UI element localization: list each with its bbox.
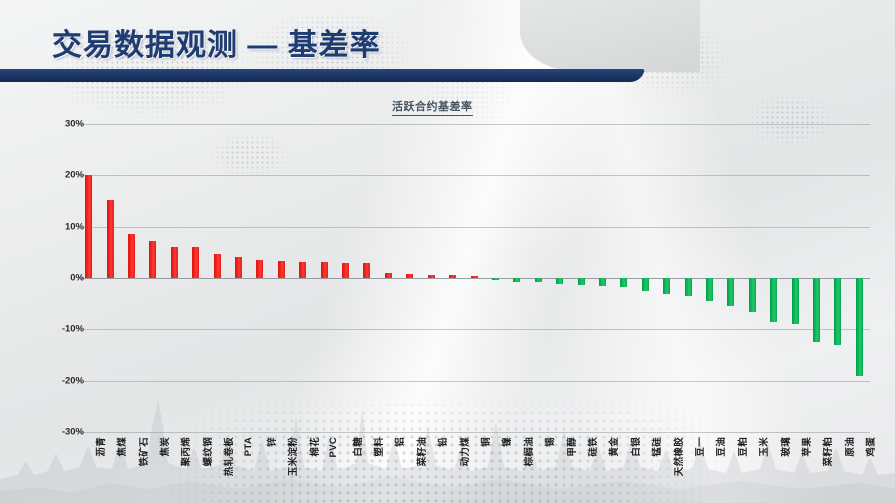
bar-天然橡胶[interactable]	[663, 278, 670, 294]
x-axis-label-塑料: 塑料	[371, 437, 385, 457]
x-axis-label-豆油: 豆油	[713, 437, 727, 457]
x-axis-label-焦炭: 焦炭	[157, 437, 171, 457]
bar-聚丙烯[interactable]	[171, 247, 178, 278]
x-axis-label-PVC: PVC	[328, 437, 339, 457]
x-axis-label-棉花: 棉花	[307, 437, 321, 457]
x-axis-label-热轧卷板: 热轧卷板	[221, 437, 235, 476]
bar-焦炭[interactable]	[149, 241, 156, 278]
slide-root: 交易数据观测 — 基差率 活跃合约基差率 30%20%10%0%-10%-20%…	[0, 0, 895, 503]
x-axis-label-豆粕: 豆粕	[735, 437, 749, 457]
y-axis-tick-label: 30%	[24, 119, 84, 130]
x-axis-label-锡: 锡	[542, 437, 556, 447]
x-axis-label-沥青: 沥青	[93, 437, 107, 457]
bar-塑料[interactable]	[363, 263, 370, 278]
x-axis-label-原油: 原油	[842, 437, 856, 457]
chart-container: 活跃合约基差率 30%20%10%0%-10%-20%-30%沥青焦煤铁矿石焦炭…	[0, 84, 895, 503]
x-axis-label-白糖: 白糖	[350, 437, 364, 457]
y-axis-tick-label: -10%	[24, 324, 84, 335]
bar-棉花[interactable]	[299, 262, 306, 278]
bar-白银[interactable]	[620, 278, 627, 287]
x-axis-label-天然橡胶: 天然橡胶	[671, 437, 685, 476]
y-axis-tick-label: 20%	[24, 170, 84, 181]
bar-锌[interactable]	[256, 260, 263, 278]
x-axis-label-锰硅: 锰硅	[649, 437, 663, 457]
x-axis-label-豆一: 豆一	[692, 437, 706, 457]
x-axis-label-棕榈油: 棕榈油	[521, 437, 535, 466]
bar-热轧卷板[interactable]	[214, 254, 221, 278]
x-axis-label-动力煤: 动力煤	[457, 437, 471, 466]
header-curve-decoration	[520, 0, 700, 72]
bar-镍[interactable]	[492, 278, 499, 280]
bar-锡[interactable]	[535, 278, 542, 282]
bar-铝[interactable]	[385, 273, 392, 278]
x-axis-label-甲醇: 甲醇	[564, 437, 578, 457]
bar-豆一[interactable]	[685, 278, 692, 296]
gridline-30%	[78, 124, 870, 125]
bar-螺纹钢[interactable]	[192, 247, 199, 278]
x-axis-label-鸡蛋: 鸡蛋	[863, 437, 877, 457]
x-axis-label-黄金: 黄金	[606, 437, 620, 457]
bar-黄金[interactable]	[599, 278, 606, 286]
chart-title: 活跃合约基差率	[392, 98, 473, 116]
bar-硅铁[interactable]	[578, 278, 585, 285]
bar-苹果[interactable]	[792, 278, 799, 324]
bar-甲醇[interactable]	[556, 278, 563, 284]
x-axis-label-玉米淀粉: 玉米淀粉	[285, 437, 299, 476]
bar-动力煤[interactable]	[449, 275, 456, 278]
bar-铁矿石[interactable]	[128, 234, 135, 278]
y-axis-tick-label: -30%	[24, 427, 84, 438]
x-axis-label-螺纹钢: 螺纹钢	[200, 437, 214, 466]
bar-玻璃[interactable]	[770, 278, 777, 322]
x-axis-label-菜籽粕: 菜籽粕	[820, 437, 834, 466]
bar-棕榈油[interactable]	[513, 278, 520, 282]
y-axis-tick-label: 10%	[24, 221, 84, 232]
page-title: 交易数据观测 — 基差率	[52, 20, 381, 64]
x-axis-label-白银: 白银	[628, 437, 642, 457]
slide-header: 交易数据观测 — 基差率	[0, 0, 895, 84]
x-axis-label-锌: 锌	[264, 437, 278, 447]
bar-焦煤[interactable]	[107, 200, 114, 278]
x-axis-label-菜籽油: 菜籽油	[414, 437, 428, 466]
bar-沥青[interactable]	[85, 175, 92, 278]
bar-菜籽油[interactable]	[406, 274, 413, 278]
bar-豆粕[interactable]	[727, 278, 734, 306]
bar-豆油[interactable]	[706, 278, 713, 301]
x-axis-label-玻璃: 玻璃	[778, 437, 792, 457]
x-axis-label-铜: 铜	[478, 437, 492, 447]
bar-原油[interactable]	[834, 278, 841, 345]
x-axis-label-焦煤: 焦煤	[114, 437, 128, 457]
bar-铜[interactable]	[471, 276, 478, 278]
x-axis-label-镍: 镍	[499, 437, 513, 447]
x-axis-label-铁矿石: 铁矿石	[136, 437, 150, 466]
chart-plot-area: 30%20%10%0%-10%-20%-30%沥青焦煤铁矿石焦炭聚丙烯螺纹钢热轧…	[78, 124, 870, 432]
y-axis-tick-label: 0%	[24, 273, 84, 284]
gridline--10%	[78, 329, 870, 330]
x-axis-label-硅铁: 硅铁	[585, 437, 599, 457]
bar-玉米[interactable]	[749, 278, 756, 312]
bar-铅[interactable]	[428, 275, 435, 278]
x-axis-label-聚丙烯: 聚丙烯	[178, 437, 192, 466]
gridline-10%	[78, 227, 870, 228]
bar-菜籽粕[interactable]	[813, 278, 820, 342]
bar-玉米淀粉[interactable]	[278, 261, 285, 278]
bar-PVC[interactable]	[321, 262, 328, 278]
gridline--20%	[78, 381, 870, 382]
bar-锰硅[interactable]	[642, 278, 649, 291]
x-axis-label-铝: 铝	[392, 437, 406, 447]
bar-白糖[interactable]	[342, 263, 349, 278]
gridline--30%	[78, 432, 870, 433]
x-axis-label-玉米: 玉米	[756, 437, 770, 457]
bar-PTA[interactable]	[235, 257, 242, 278]
gridline-20%	[78, 175, 870, 176]
x-axis-label-铅: 铅	[435, 437, 449, 447]
x-axis-label-苹果: 苹果	[799, 437, 813, 457]
y-axis-tick-label: -20%	[24, 375, 84, 386]
bar-鸡蛋[interactable]	[856, 278, 863, 376]
header-blue-band-angled	[0, 69, 645, 82]
x-axis-label-PTA: PTA	[243, 437, 254, 456]
